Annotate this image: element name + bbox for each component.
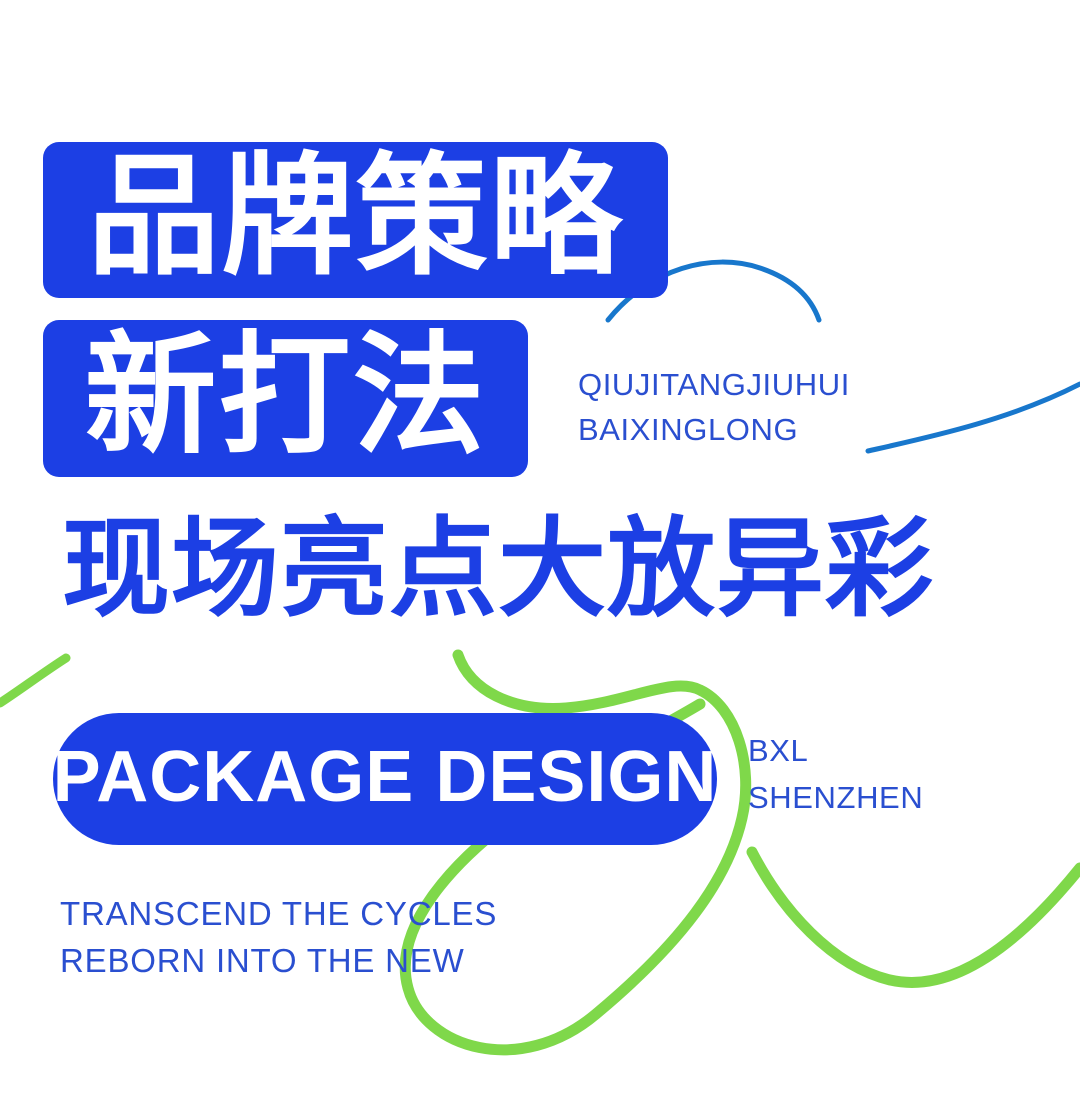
title-box-brand-strategy: 品牌策略 xyxy=(43,142,668,298)
green-dash-upper-left-icon xyxy=(0,658,66,703)
tagline-line-1: TRANSCEND THE CYCLES xyxy=(60,891,497,938)
location-line-2: SHENZHEN xyxy=(748,775,923,822)
green-swoosh-right-icon xyxy=(752,852,1080,982)
tagline-block: TRANSCEND THE CYCLES REBORN INTO THE NEW xyxy=(60,891,497,985)
blue-arc-lower-right-icon xyxy=(868,384,1080,451)
poster-canvas: 品牌策略 新打法 QIUJITANGJIUHUI BAIXINGLONG 现场亮… xyxy=(0,0,1080,1112)
pinyin-line-2: BAIXINGLONG xyxy=(578,407,850,452)
headline-highlight: 现场亮点大放异彩 xyxy=(62,515,992,623)
pinyin-block: QIUJITANGJIUHUI BAIXINGLONG xyxy=(578,362,850,453)
location-block: BXL SHENZHEN xyxy=(748,728,923,821)
pinyin-line-1: QIUJITANGJIUHUI xyxy=(578,362,850,407)
location-line-1: BXL xyxy=(748,728,923,775)
tagline-line-2: REBORN INTO THE NEW xyxy=(60,938,497,985)
pill-package-design-label: PACKAGE DESIGN xyxy=(53,741,718,813)
title-box-new-method: 新打法 xyxy=(43,320,528,477)
pill-package-design: PACKAGE DESIGN xyxy=(53,713,717,845)
title-box-new-method-label: 新打法 xyxy=(85,330,487,462)
title-box-brand-strategy-label: 品牌策略 xyxy=(88,151,624,283)
